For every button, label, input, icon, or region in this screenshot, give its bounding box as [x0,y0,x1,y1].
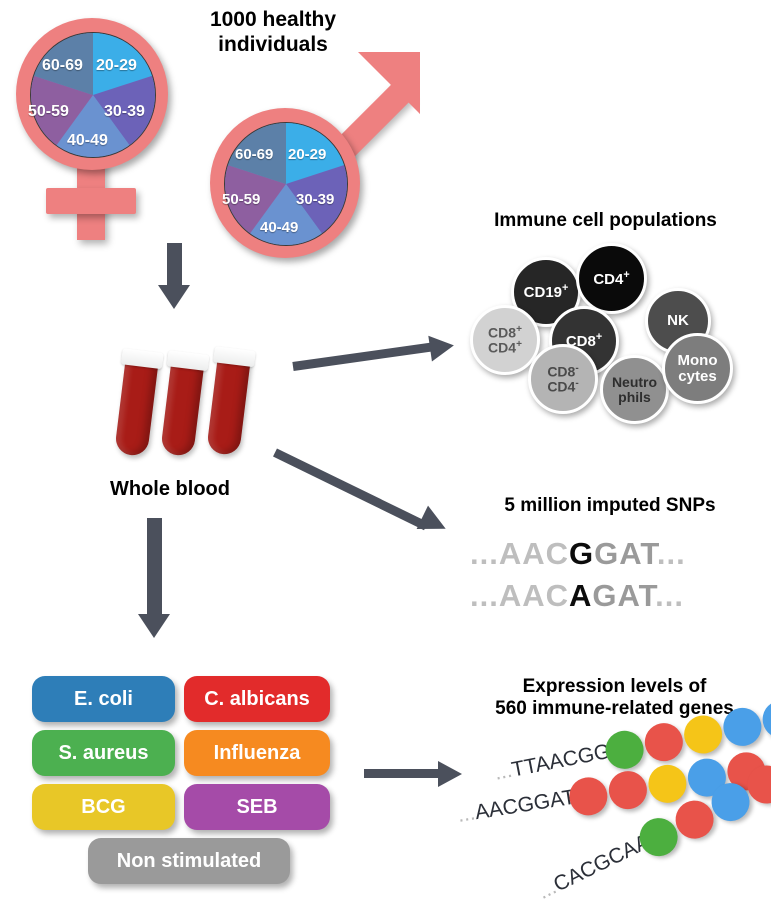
immune-cell-label: CD8-CD4- [547,364,578,395]
stimulus-non-stimulated[interactable]: Non stimulated [88,838,290,884]
stimulus-label: S. aureus [58,742,148,765]
snp-suffix: GAT [592,578,655,613]
study-design-diagram: 1000 healthy individuals 60-69 20-29 50-… [0,0,771,922]
rna-bead [646,762,689,805]
stimulus-label: Non stimulated [117,850,261,873]
stimulus-label: BCG [81,796,125,819]
arrow-head [428,332,455,361]
immune-cell-label: CD19+ [524,283,569,301]
stimulus-c-albicans[interactable]: C. albicans [184,676,330,722]
rna-bead [642,720,687,765]
immune-cell-label: Monocytes [678,353,718,385]
stimulus-seb[interactable]: SEB [184,784,330,830]
snp-prefix: AAC [499,536,569,571]
rna-sequence-text: ...AACGGAT [456,786,577,828]
arrow-shaft [364,769,443,778]
snp-ellipsis-left: ... [470,578,499,613]
stimulus-label: Influenza [214,742,301,765]
snp-allele: G [569,536,594,571]
snps-title: 5 million imputed SNPs [460,495,760,517]
immune-cell-label: Neutrophils [612,375,657,405]
rna-bead [720,705,765,750]
rna-bead [681,712,726,757]
snp-sequence-row: ...AACAGAT... [470,578,684,614]
rna-bead [602,728,647,773]
stimulus-e-coli[interactable]: E. coli [32,676,175,722]
immune-cell-label: CD4+ [593,270,629,288]
stimulus-bcg[interactable]: BCG [32,784,175,830]
immune-cell-cd4: CD4+ [576,243,647,314]
immune-cell-label: CD8+CD4+ [488,325,522,356]
immune-cell-label: NK [667,313,689,329]
expression-title-line1: Expression levels of [458,676,771,698]
immune-populations-title: Immune cell populations [440,210,771,232]
rna-bead [567,775,610,818]
snp-ellipsis-right: ... [655,578,684,613]
snp-ellipsis-right: ... [657,536,686,571]
immune-cell-cd8-cd4: CD8-CD4- [528,344,598,414]
snp-allele: A [569,578,592,613]
immune-cell-cd8-cd4: CD8+CD4+ [470,305,540,375]
snp-prefix: AAC [499,578,569,613]
immune-cell-neutrophils: Neutrophils [600,355,669,424]
snp-suffix: GAT [594,536,657,571]
rna-bead [606,768,649,811]
immune-cell-monocytes: Monocytes [662,333,733,404]
rna-bead [759,697,771,742]
stimulus-label: C. albicans [204,688,310,711]
snp-sequences: ...AACGGAT......AACAGAT... [470,536,760,616]
rna-strands: ...TTAACGG...AACGGAT...CACGCAA [440,740,771,922]
rna-sequence-text: ...CACGCAA [534,830,654,905]
snp-ellipsis-left: ... [470,536,499,571]
stimulus-s-aureus[interactable]: S. aureus [32,730,175,776]
stimulus-influenza[interactable]: Influenza [184,730,330,776]
arrow-head [417,506,452,541]
snp-sequence-row: ...AACGGAT... [470,536,686,572]
stimuli-panel: E. coliC. albicansS. aureusInfluenzaBCGS… [0,0,400,922]
stimulus-label: E. coli [74,688,133,711]
stimulus-label: SEB [236,796,277,819]
